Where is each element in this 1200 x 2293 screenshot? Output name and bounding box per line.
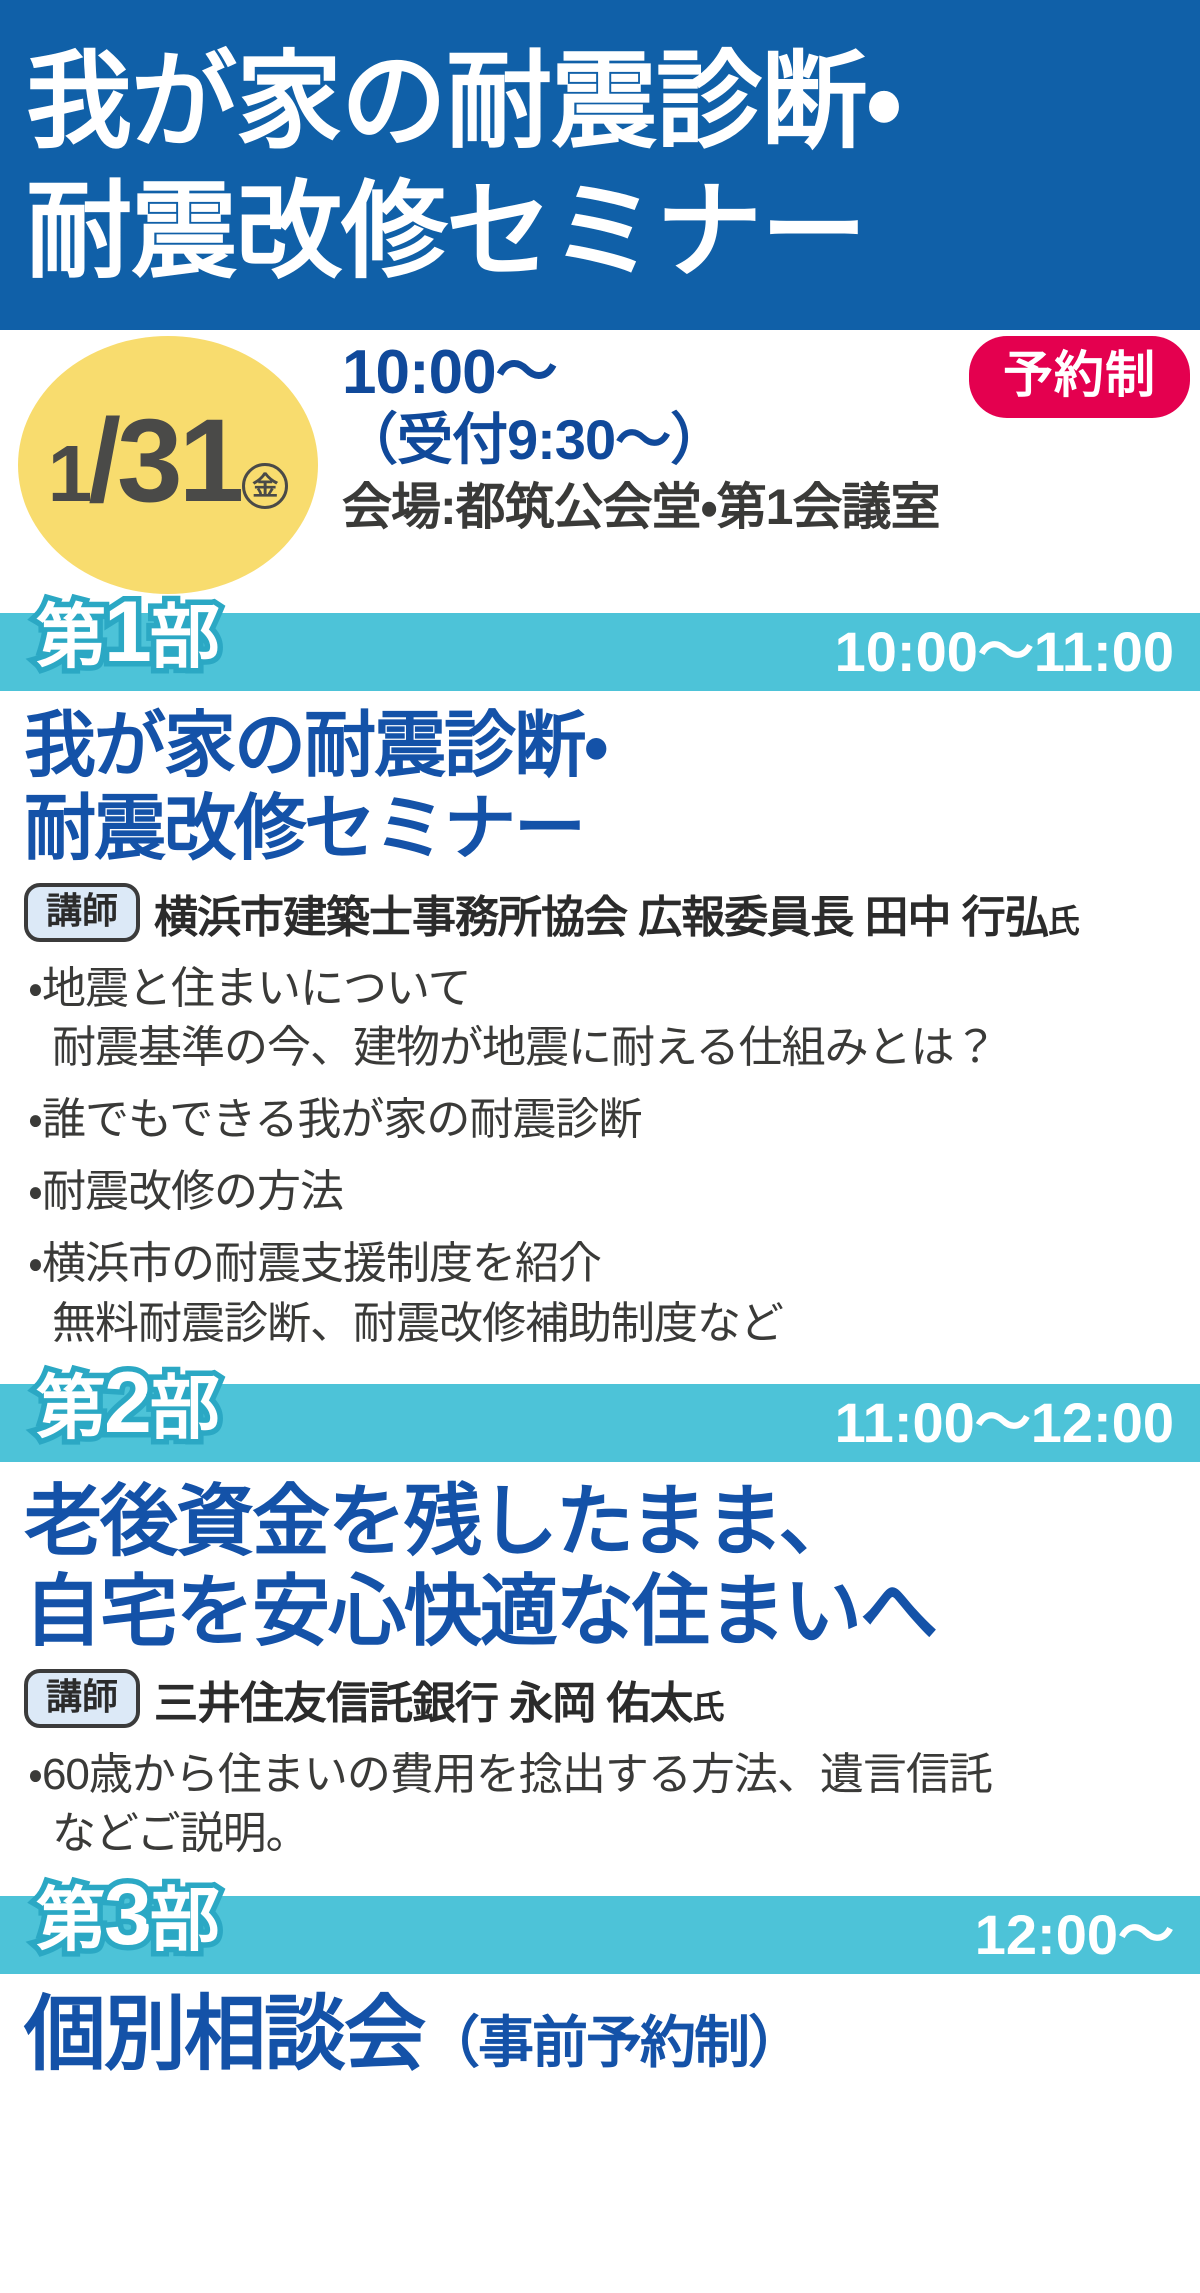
part-1-lecturer-name: 横浜市建築士事務所協会 広報委員長 田中 行弘氏 <box>154 881 1079 945</box>
part-1-bullet-list: ・地震と住まいについて 耐震基準の今、建物が地震に耐える仕組みとは？ ・誰でもで… <box>24 959 1176 1354</box>
part-3-suffix: 部 <box>150 1881 218 1959</box>
list-item: ・耐震改修の方法 <box>24 1162 1176 1222</box>
bullet-main: ・60歳から住まいの費用を捻出する方法、遺言信託 <box>28 1750 992 1799</box>
date-slash-icon: / <box>88 402 117 520</box>
part-3-title-main: 個別相談会 <box>24 1989 424 2080</box>
part-2-lecturer-badge: 講師 <box>24 1669 140 1728</box>
bullet-main: ・地震と住まいについて <box>28 964 471 1013</box>
part-2-body: 老後資金を残したまま、 自宅を安心快適な住まいへ 講師 三井住友信託銀行 永岡 … <box>0 1462 1200 1865</box>
part-3-title-note: （事前予約制） <box>424 2011 802 2074</box>
part-3-time: 12:00〜 <box>975 1907 1174 1963</box>
reservation-required-badge: 予約制 <box>969 336 1190 418</box>
part-1-label: 第1部 <box>36 589 218 675</box>
part-3-label: 第3部 <box>36 1872 218 1958</box>
event-venue: 会場:都筑公会堂・第1会議室 <box>342 477 1200 537</box>
part-2-band: 第2部 11:00〜12:00 <box>0 1384 1200 1462</box>
bullet-sub: 耐震基準の今、建物が地震に耐える仕組みとは？ <box>28 1018 1176 1078</box>
part-2-title-line2: 自宅を安心快適な住まいへ <box>24 1566 1176 1656</box>
part-1-body: 我が家の耐震診断・ 耐震改修セミナー 講師 横浜市建築士事務所協会 広報委員長 … <box>0 691 1200 1354</box>
part-2-suffix: 部 <box>150 1369 218 1447</box>
part-1-suffix: 部 <box>150 598 218 676</box>
date-month: 1 <box>48 434 89 514</box>
part-2-number: 2 <box>104 1355 150 1451</box>
part-1-band: 第1部 10:00〜11:00 <box>0 613 1200 691</box>
event-date: 1/31金 <box>48 402 289 520</box>
part-2-title-line1: 老後資金を残したまま、 <box>24 1476 1176 1566</box>
part-2-label: 第2部 <box>36 1360 218 1446</box>
date-oval-badge: 1/31金 <box>18 336 318 594</box>
part-1-number: 1 <box>104 584 150 680</box>
poster-title-line2: 耐震改修セミナー <box>26 167 866 297</box>
seminar-poster: 我が家の耐震診断・ 耐震改修セミナー 1/31金 10:00〜 （受付9:30〜… <box>0 0 1200 2293</box>
event-info-row: 1/31金 10:00〜 （受付9:30〜） 会場:都筑公会堂・第1会議室 予約… <box>0 330 1200 613</box>
part-3-number: 3 <box>104 1867 150 1963</box>
part-2-prefix: 第 <box>36 1369 104 1447</box>
bullet-sub: などご説明。 <box>28 1804 1176 1864</box>
list-item: ・誰でもできる我が家の耐震診断 <box>24 1090 1176 1150</box>
bullet-sub: 無料耐震診断、耐震改修補助制度など <box>28 1294 1176 1354</box>
part-1-lecturer-row: 講師 横浜市建築士事務所協会 広報委員長 田中 行弘氏 <box>24 881 1176 945</box>
bullet-main: ・耐震改修の方法 <box>28 1167 343 1216</box>
weekday-badge: 金 <box>242 463 288 509</box>
event-time-venue: 10:00〜 （受付9:30〜） 会場:都筑公会堂・第1会議室 予約制 <box>318 330 1200 537</box>
list-item: ・地震と住まいについて 耐震基準の今、建物が地震に耐える仕組みとは？ <box>24 959 1176 1079</box>
date-day: 31 <box>117 402 240 520</box>
part-2-bullet-list: ・60歳から住まいの費用を捻出する方法、遺言信託 などご説明。 <box>24 1745 1176 1865</box>
part-1-title-line1: 我が家の耐震診断・ <box>24 705 1176 788</box>
poster-title-line1: 我が家の耐震診断・ <box>26 37 901 167</box>
list-item: ・横浜市の耐震支援制度を紹介 無料耐震診断、耐震改修補助制度など <box>24 1234 1176 1354</box>
poster-header: 我が家の耐震診断・ 耐震改修セミナー <box>0 0 1200 330</box>
list-item: ・60歳から住まいの費用を捻出する方法、遺言信託 などご説明。 <box>24 1745 1176 1865</box>
part-2-time: 11:00〜12:00 <box>835 1395 1174 1451</box>
part-2-lecturer-row: 講師 三井住友信託銀行 永岡 佑太氏 <box>24 1667 1176 1731</box>
part-2-lecturer-text: 三井住友信託銀行 永岡 佑太 <box>154 1679 692 1728</box>
part-2-lecturer-honorific: 氏 <box>692 1689 723 1725</box>
part-1-prefix: 第 <box>36 598 104 676</box>
part-2-lecturer-name: 三井住友信託銀行 永岡 佑太氏 <box>154 1667 723 1731</box>
part-1-time: 10:00〜11:00 <box>835 624 1174 680</box>
bullet-main: ・横浜市の耐震支援制度を紹介 <box>28 1239 601 1288</box>
part-1-title-line2: 耐震改修セミナー <box>24 788 1176 871</box>
part-1-lecturer-text: 横浜市建築士事務所協会 広報委員長 田中 行弘 <box>154 893 1048 942</box>
part-1-lecturer-badge: 講師 <box>24 883 140 942</box>
part-1-lecturer-honorific: 氏 <box>1048 903 1079 939</box>
part-3-band: 第3部 12:00〜 <box>0 1896 1200 1974</box>
bullet-main: ・誰でもできる我が家の耐震診断 <box>28 1095 641 1144</box>
part-3-prefix: 第 <box>36 1881 104 1959</box>
part-3-title: 個別相談会（事前予約制） <box>0 1974 1200 2080</box>
